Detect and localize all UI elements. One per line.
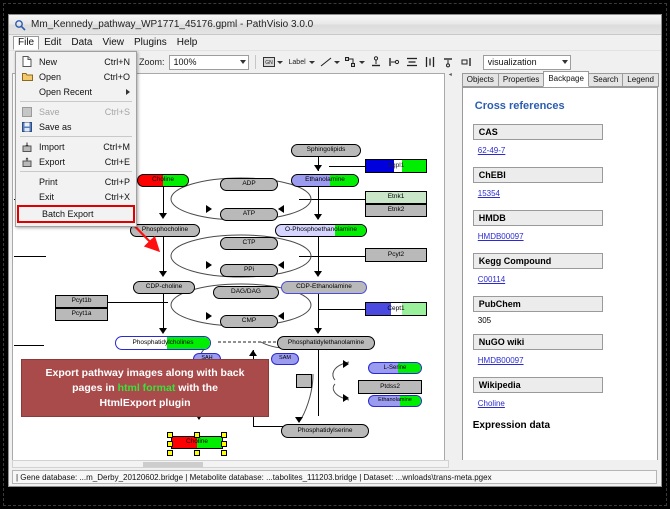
node-label: Ethanolamine: [304, 177, 346, 184]
xref-link[interactable]: HMDB00097: [478, 232, 524, 241]
side-panel-tabs: Objects Properties Backpage Search Legen…: [454, 73, 658, 87]
blank-icon: [20, 86, 34, 98]
xref-header: PubChem: [473, 296, 603, 312]
menu-help[interactable]: Help: [172, 36, 203, 50]
xref-section-hmdb: HMDB HMDB00097: [473, 210, 647, 244]
xref-link[interactable]: C00114: [478, 275, 505, 284]
node-label: CMP: [241, 318, 257, 325]
arrow-icon: [206, 312, 212, 320]
menu-label: Exit: [34, 192, 105, 202]
node-label: O-Phosphoethanolamine: [284, 227, 358, 234]
annotation-callout: Export pathway images along with back pa…: [21, 359, 269, 417]
menu-separator: [20, 101, 132, 102]
annotation-line-3: HtmlExport plugin: [100, 397, 191, 409]
panel-splitter[interactable]: ◂: [447, 71, 454, 468]
menu-view[interactable]: View: [97, 36, 129, 50]
menu-item-new[interactable]: New Ctrl+N: [16, 54, 136, 69]
file-menu-dropdown: New Ctrl+N Open Ctrl+O Open Recent Save …: [15, 51, 137, 227]
node-dag[interactable]: DAG/DAG: [213, 286, 279, 299]
xref-header: HMDB: [473, 210, 603, 226]
tab-properties[interactable]: Properties: [498, 73, 544, 87]
menu-item-open-recent[interactable]: Open Recent: [16, 84, 136, 99]
node-phosphocholine[interactable]: Phosphocholine: [130, 224, 200, 237]
distribute-icon[interactable]: [423, 55, 437, 69]
node-phosphatidylethanolamine[interactable]: Phosphatidylethanolamine: [277, 336, 375, 350]
node-label: Phosphatidylcholines: [131, 340, 194, 347]
xref-section-chebi: ChEBI 15354: [473, 167, 647, 201]
node-label: Choline: [185, 439, 209, 446]
menu-file[interactable]: File: [13, 36, 39, 50]
node-label: Choline: [151, 177, 175, 184]
connector-icon[interactable]: [344, 55, 358, 69]
node-o-phosphoethanolamine[interactable]: O-Phosphoethanolamine: [275, 224, 367, 237]
menu-label: Export: [34, 157, 105, 167]
xref-link[interactable]: Choline: [478, 399, 505, 408]
selection-handle[interactable]: [221, 432, 227, 438]
node-ctp[interactable]: CTP: [220, 237, 278, 250]
menu-item-exit[interactable]: Exit Ctrl+X: [16, 189, 136, 204]
label-button[interactable]: Label: [287, 59, 308, 66]
xref-header: ChEBI: [473, 167, 603, 183]
node-label: Phosphatidylserine: [297, 428, 354, 435]
menu-accelerator: Ctrl+O: [104, 72, 136, 82]
xref-section-kegg: Kegg Compound C00114: [473, 253, 647, 287]
blank-icon: [23, 208, 37, 220]
datanode-tool[interactable]: GN: [262, 55, 283, 69]
menu-item-save: Save Ctrl+S: [16, 104, 136, 119]
xref-link[interactable]: 62-49-7: [478, 146, 506, 155]
xref-link[interactable]: HMDB00097: [478, 356, 524, 365]
toolbar-separator: [255, 55, 256, 69]
chevron-down-icon[interactable]: [277, 61, 283, 64]
node-etnk2[interactable]: Etnk2: [365, 204, 427, 217]
expression-data-title: Expression data: [473, 420, 647, 431]
annotation-highlight: html format: [118, 382, 176, 394]
menu-item-open[interactable]: Open Ctrl+O: [16, 69, 136, 84]
node-cdp-choline[interactable]: CDP-choline: [133, 281, 195, 294]
menu-label: Print: [34, 177, 105, 187]
menu-plugins[interactable]: Plugins: [129, 36, 172, 50]
xref-header: Kegg Compound: [473, 253, 603, 269]
menu-accelerator: Ctrl+S: [105, 107, 136, 117]
node-label: CDP-choline: [145, 284, 184, 291]
node-pcyt1b[interactable]: Pcyt1b: [55, 295, 108, 308]
svg-text:GN: GN: [265, 60, 273, 66]
align-bottom-icon[interactable]: [441, 55, 455, 69]
node-choline[interactable]: Choline: [137, 174, 189, 187]
splitter-grip: ◂: [449, 73, 452, 78]
selection-handle[interactable]: [194, 432, 200, 438]
chevron-right-icon: [126, 89, 130, 95]
menu-item-import[interactable]: Import Ctrl+M: [16, 139, 136, 154]
node-ptdss2[interactable]: Ptdss2: [358, 380, 422, 394]
align-right-icon[interactable]: [459, 55, 473, 69]
node-label: ATP: [242, 211, 256, 218]
edge-ptdetn-ptdser: [318, 350, 319, 416]
side-panel: Objects Properties Backpage Search Legen…: [454, 71, 661, 468]
visualization-combo[interactable]: visualization: [483, 55, 571, 70]
xref-section-pubchem: PubChem 305: [473, 296, 647, 325]
selection-handle[interactable]: [221, 450, 227, 456]
menu-accelerator: Ctrl+X: [105, 192, 136, 202]
blank-icon: [20, 176, 34, 188]
tab-objects[interactable]: Objects: [462, 73, 499, 87]
menu-accelerator: Ctrl+E: [105, 157, 136, 167]
node-label: CTP: [242, 240, 257, 247]
xref-header: NuGO wiki: [473, 334, 603, 350]
expression-half-right: [402, 160, 426, 172]
arrow-icon: [278, 205, 284, 213]
pathvisio-window: Mm_Kennedy_pathway_WP1771_45176.gpml - P…: [8, 14, 662, 487]
cross-references-title: Cross references: [475, 100, 647, 112]
menu-item-save-as[interactable]: Save as: [16, 119, 136, 134]
menu-bar: File Edit Data View Plugins Help: [9, 35, 661, 51]
import-icon: [20, 141, 34, 153]
selection-handle[interactable]: [221, 441, 227, 447]
node-label: Pcyt2: [387, 252, 405, 259]
node-label: SAM: [278, 356, 292, 362]
node-sam[interactable]: SAM: [271, 353, 299, 365]
menu-item-batch-export[interactable]: Batch Export: [17, 205, 135, 223]
xref-section-cas: CAS 62-49-7: [473, 124, 647, 158]
selection-handle[interactable]: [167, 450, 173, 456]
chevron-down-icon: [240, 60, 246, 64]
menu-edit[interactable]: Edit: [39, 36, 66, 50]
xref-section-nugo: NuGO wiki HMDB00097: [473, 334, 647, 368]
tab-legend[interactable]: Legend: [622, 73, 659, 87]
status-bar: | Gene database: ...m_Derby_20120602.bri…: [9, 468, 661, 486]
menu-label: Import: [34, 142, 103, 152]
node-pcyt1a[interactable]: Pcyt1a: [55, 308, 108, 321]
node-label: PPi: [243, 267, 255, 274]
line-tool[interactable]: [319, 55, 340, 69]
node-label: Pcyt1a: [71, 311, 93, 318]
save-icon: [20, 106, 34, 118]
edge-ptdser-h: [253, 426, 283, 427]
chevron-down-icon[interactable]: [309, 61, 315, 64]
xref-header: CAS: [473, 124, 603, 140]
canvas-hscrollbar-area: [12, 460, 661, 468]
annotation-line-2a: pages in: [72, 382, 118, 394]
node-label: Sphingolipids: [306, 147, 347, 154]
node-label: Etnk1: [387, 194, 406, 201]
connector-tool[interactable]: [344, 55, 365, 69]
node-label: Ptdss2: [379, 384, 401, 391]
pathvisio-icon: [14, 19, 26, 31]
selection-handle[interactable]: [167, 441, 173, 447]
node-label: Sgpl1: [387, 163, 406, 170]
node-etnk1[interactable]: Etnk1: [365, 191, 427, 204]
node-label: Phosphatidylethanolamine: [287, 340, 365, 347]
backpage-content: Cross references CAS 62-49-7 ChEBI 15354…: [462, 87, 658, 466]
node-label: CDP-Ethanolamine: [295, 284, 353, 291]
canvas-hscrollbar[interactable]: [12, 460, 449, 468]
arrow-icon: [278, 312, 284, 320]
line-icon[interactable]: [319, 55, 333, 69]
zoom-value: 100%: [174, 57, 197, 67]
align-top-icon[interactable]: [369, 55, 383, 69]
chevron-down-icon[interactable]: [334, 61, 340, 64]
selection-handle[interactable]: [194, 450, 200, 456]
visualization-value: visualization: [488, 57, 537, 67]
zoom-label: Zoom:: [139, 57, 165, 67]
node-adp[interactable]: ADP: [220, 178, 278, 191]
node-l-serine[interactable]: L-Serine: [368, 362, 422, 374]
node-pcyt2[interactable]: Pcyt2: [365, 248, 427, 262]
align-left-icon[interactable]: [387, 55, 401, 69]
xref-section-wikipedia: Wikipedia Choline: [473, 377, 647, 411]
menu-label: Batch Export: [37, 209, 133, 219]
node-ethanolamine[interactable]: Ethanolamine: [291, 174, 359, 187]
window-title: Mm_Kennedy_pathway_WP1771_45176.gpml - P…: [31, 19, 313, 30]
node-label: DAG/DAG: [230, 289, 262, 296]
menu-label: New: [34, 57, 104, 67]
arrow-icon: [206, 205, 212, 213]
menu-label: Open: [34, 72, 104, 82]
xref-link[interactable]: 15354: [478, 189, 500, 198]
arrow-icon: [278, 261, 284, 269]
blank-icon: [20, 191, 34, 203]
zoom-combo[interactable]: 100%: [169, 55, 249, 70]
node-sphingolipids[interactable]: Sphingolipids: [291, 144, 361, 157]
menu-accelerator: Ctrl+P: [105, 177, 136, 187]
arrow-icon: [249, 350, 257, 356]
menu-label: Save: [34, 107, 105, 117]
annotation-line-1: Export pathway images along with back: [46, 367, 245, 379]
chevron-down-icon: [562, 60, 568, 64]
data-node-icon[interactable]: GN: [262, 55, 276, 69]
selection-handle[interactable]: [167, 432, 173, 438]
menu-data[interactable]: Data: [66, 36, 97, 50]
node-ethanolamine-2[interactable]: Ethanolamine: [368, 395, 422, 407]
node-label: Phosphocholine: [141, 227, 189, 234]
menu-label: Save as: [34, 122, 130, 132]
node-label: Pcyt1b: [71, 298, 93, 305]
node-phosphatidylcholines[interactable]: Phosphatidylcholines: [115, 336, 211, 350]
tab-search[interactable]: Search: [588, 73, 623, 87]
node-label: Ethanolamine: [377, 398, 413, 404]
node-label: Cept1: [386, 306, 405, 313]
menu-item-export[interactable]: Export Ctrl+E: [16, 154, 136, 169]
node-sgpl1[interactable]: Sgpl1: [365, 159, 427, 173]
status-text: | Gene database: ...m_Derby_20120602.bri…: [12, 470, 657, 484]
menu-separator: [20, 171, 132, 172]
chevron-down-icon[interactable]: [359, 61, 365, 64]
xref-header: Wikipedia: [473, 377, 603, 393]
menu-accelerator: Ctrl+N: [104, 57, 136, 67]
menu-accelerator: Ctrl+M: [103, 142, 136, 152]
node-ppi[interactable]: PPi: [220, 264, 278, 277]
node-label: L-Serine: [383, 365, 408, 371]
node-phosphatidylserine[interactable]: Phosphatidylserine: [281, 424, 369, 438]
node-cmp[interactable]: CMP: [220, 315, 278, 328]
arrow-icon: [343, 360, 349, 368]
tab-backpage[interactable]: Backpage: [543, 71, 589, 87]
node-label: Etnk2: [387, 207, 406, 214]
xref-value: 305: [478, 316, 647, 325]
menu-separator: [20, 136, 132, 137]
node-label: ADP: [241, 181, 256, 188]
node-anchor-box[interactable]: [296, 374, 312, 388]
export-icon: [20, 156, 34, 168]
arrow-icon: [343, 394, 349, 402]
menu-label: Open Recent: [34, 87, 126, 97]
node-cdp-ethanolamine[interactable]: CDP-Ethanolamine: [281, 281, 367, 294]
title-bar: Mm_Kennedy_pathway_WP1771_45176.gpml - P…: [9, 15, 661, 35]
save-as-icon: [20, 121, 34, 133]
arrow-icon: [295, 417, 303, 423]
label-tool[interactable]: Label: [287, 59, 315, 66]
folder-open-icon: [20, 71, 34, 83]
scrollbar-thumb[interactable]: [143, 462, 203, 467]
arrow-icon: [206, 261, 212, 269]
new-document-icon: [20, 56, 34, 68]
menu-item-print[interactable]: Print Ctrl+P: [16, 174, 136, 189]
node-atp[interactable]: ATP: [220, 208, 278, 221]
screen: Mm_Kennedy_pathway_WP1771_45176.gpml - P…: [0, 0, 670, 509]
annotation-line-2b: with the: [175, 382, 218, 394]
node-cept1[interactable]: Cept1: [365, 302, 427, 316]
stack-vertical-icon[interactable]: [405, 55, 419, 69]
